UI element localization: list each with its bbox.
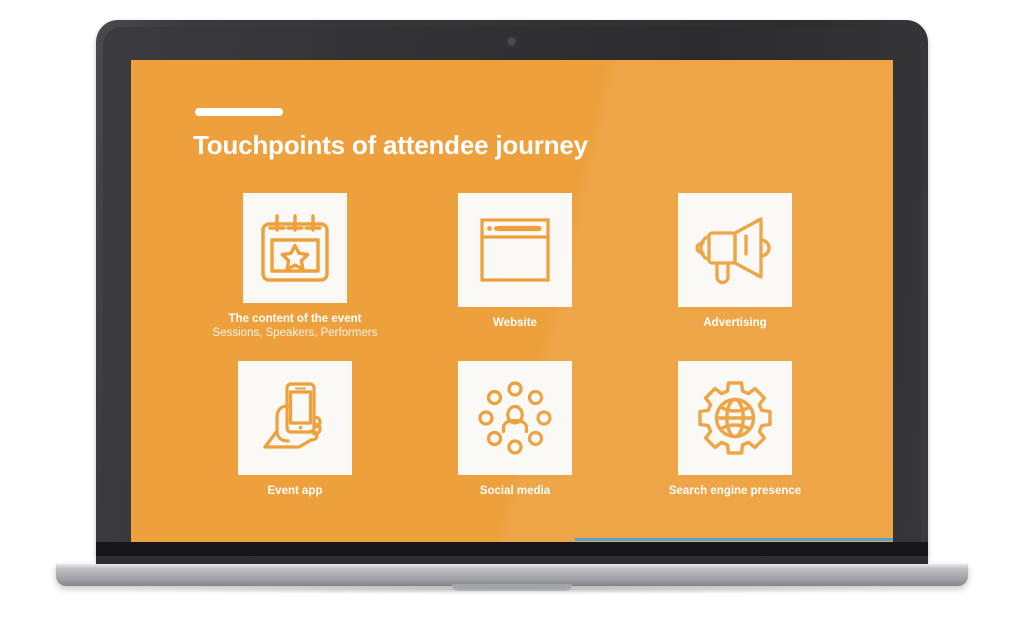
presentation-slide: Touchpoints of attendee journey xyxy=(131,60,893,542)
tile-subtitle: Sessions, Speakers, Performers xyxy=(213,326,378,340)
touchpoint-tile-event-app[interactable]: Event app xyxy=(185,361,405,529)
tile-title: Event app xyxy=(268,484,323,498)
icon-card xyxy=(243,193,347,303)
icon-card xyxy=(458,361,572,475)
laptop-shadow xyxy=(120,584,904,594)
laptop-screen: Touchpoints of attendee journey xyxy=(131,60,893,542)
touchpoint-tile-advertising[interactable]: Advertising xyxy=(625,193,845,361)
touchpoint-tile-website[interactable]: Website xyxy=(405,193,625,361)
touchpoint-tile-search-engine-presence[interactable]: Search engine presence xyxy=(625,361,845,529)
touchpoint-tile-social-media[interactable]: Social media xyxy=(405,361,625,529)
icon-card xyxy=(238,361,352,475)
laptop-mockup: Touchpoints of attendee journey xyxy=(0,0,1024,630)
webcam-icon xyxy=(508,38,515,45)
tile-title: Advertising xyxy=(703,316,766,330)
tile-labels: Search engine presence xyxy=(669,484,801,498)
title-accent-dash xyxy=(195,108,283,116)
laptop-base-edge xyxy=(56,564,968,568)
icon-card xyxy=(678,193,792,307)
tile-labels: Advertising xyxy=(703,316,766,330)
tile-labels: Event app xyxy=(268,484,323,498)
tile-title: Social media xyxy=(480,484,550,498)
touchpoint-tile-content-of-the-event[interactable]: The content of the event Sessions, Speak… xyxy=(185,193,405,361)
slide-accent-line xyxy=(575,538,893,541)
social-network-people-icon xyxy=(476,379,554,457)
tile-title: Search engine presence xyxy=(669,484,801,498)
calendar-star-icon xyxy=(256,208,334,288)
tile-labels: Website xyxy=(493,316,537,330)
globe-gear-icon xyxy=(695,378,775,458)
tile-title: Website xyxy=(493,316,537,330)
touchpoint-grid: The content of the event Sessions, Speak… xyxy=(185,193,845,529)
page-title: Touchpoints of attendee journey xyxy=(193,130,853,161)
tile-labels: The content of the event Sessions, Speak… xyxy=(213,312,378,340)
tile-title: The content of the event xyxy=(213,312,378,326)
tile-labels: Social media xyxy=(480,484,550,498)
icon-card xyxy=(678,361,792,475)
browser-window-icon xyxy=(477,214,553,286)
icon-card xyxy=(458,193,572,307)
megaphone-icon xyxy=(695,214,775,286)
hand-holding-phone-icon xyxy=(255,379,335,457)
